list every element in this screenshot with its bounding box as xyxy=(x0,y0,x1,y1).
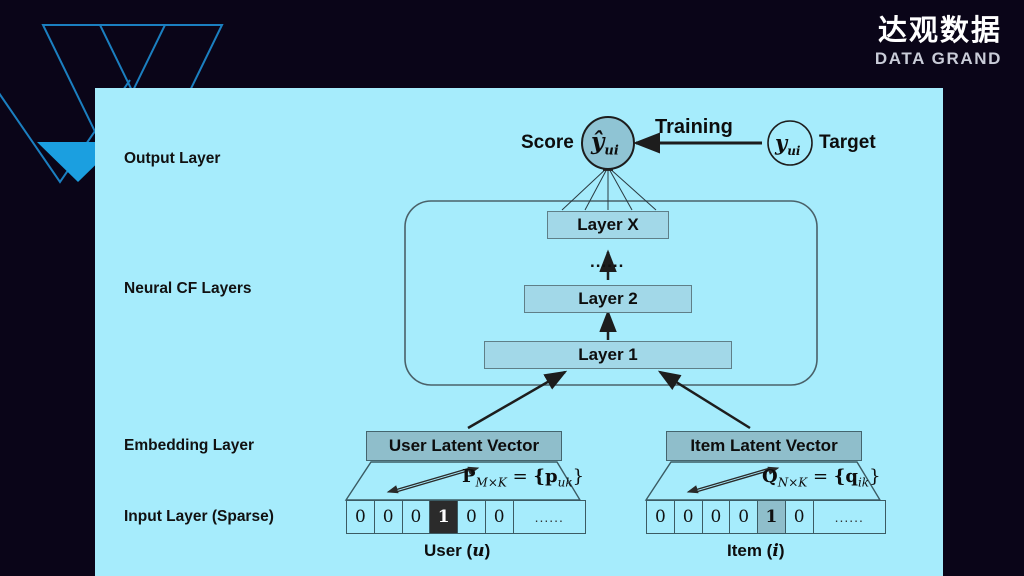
user-matrix-set-close: } xyxy=(573,466,584,487)
user-matrix-symbol: P xyxy=(462,466,476,487)
user-input-cell-1[interactable]: 0 xyxy=(375,501,403,533)
layer-2-box[interactable]: Layer 2 xyxy=(524,285,692,313)
user-matrix-formula: PM×K = {puk} xyxy=(462,466,584,490)
user-caption: User (u) xyxy=(424,541,490,561)
target-node-subscript: ui xyxy=(787,144,800,158)
user-matrix-subscript: M×K xyxy=(476,476,507,490)
item-matrix-symbol: Q xyxy=(762,466,778,487)
item-matrix-subscript: N×K xyxy=(778,476,808,490)
score-node-subscript: ui xyxy=(604,144,618,159)
target-node-label: yui xyxy=(775,130,801,158)
item-caption-end: ) xyxy=(779,541,785,560)
user-input-cell-5[interactable]: 0 xyxy=(486,501,514,533)
user-caption-variable: u xyxy=(472,541,484,561)
item-input-cell-4[interactable]: 1 xyxy=(758,501,786,533)
score-node-label: ŷui xyxy=(591,128,619,159)
target-node-symbol: y xyxy=(775,130,787,155)
user-input-cell-4[interactable]: 0 xyxy=(458,501,486,533)
layer-x-box[interactable]: Layer X xyxy=(547,211,669,239)
item-input-cell-2[interactable]: 0 xyxy=(703,501,731,533)
item-matrix-equals: = xyxy=(813,466,828,487)
user-input-cell-6[interactable]: ...... xyxy=(514,501,585,533)
item-input-cell-3[interactable]: 0 xyxy=(730,501,758,533)
training-label: Training xyxy=(655,116,733,139)
user-input-cell-0[interactable]: 0 xyxy=(347,501,375,533)
item-matrix-set-subscript: ik xyxy=(858,476,869,490)
user-input-onehot-row[interactable]: 000100...... xyxy=(346,500,586,534)
item-matrix-set-open: {q xyxy=(834,466,858,487)
user-input-cell-3[interactable]: 1 xyxy=(430,501,458,533)
target-label: Target xyxy=(819,132,876,154)
layers-ellipsis: ...... xyxy=(590,252,624,272)
layer-1-box[interactable]: Layer 1 xyxy=(484,341,732,369)
item-input-cell-5[interactable]: 0 xyxy=(786,501,814,533)
item-input-cell-6[interactable]: ...... xyxy=(814,501,885,533)
item-latent-vector-box[interactable]: Item Latent Vector xyxy=(666,431,862,461)
item-input-onehot-row[interactable]: 000010...... xyxy=(646,500,886,534)
user-latent-vector-box[interactable]: User Latent Vector xyxy=(366,431,562,461)
user-input-cell-2[interactable]: 0 xyxy=(403,501,431,533)
user-caption-text: User ( xyxy=(424,541,472,560)
user-matrix-equals: = xyxy=(513,466,528,487)
user-matrix-set-open: {p xyxy=(533,466,557,487)
item-input-cell-0[interactable]: 0 xyxy=(647,501,675,533)
score-label: Score xyxy=(521,132,574,154)
user-caption-end: ) xyxy=(485,541,491,560)
item-caption-text: Item ( xyxy=(727,541,772,560)
diagram-connectors xyxy=(0,0,1024,576)
slide-root: 达观数据 DATA GRAND Output Layer Neural CF L… xyxy=(0,0,1024,576)
item-input-cell-1[interactable]: 0 xyxy=(675,501,703,533)
score-node-symbol: ŷ xyxy=(591,128,604,155)
item-matrix-set-close: } xyxy=(869,466,880,487)
item-caption: Item (i) xyxy=(727,541,784,561)
item-matrix-formula: QN×K = {qik} xyxy=(762,466,881,490)
user-matrix-set-subscript: uk xyxy=(558,476,573,490)
